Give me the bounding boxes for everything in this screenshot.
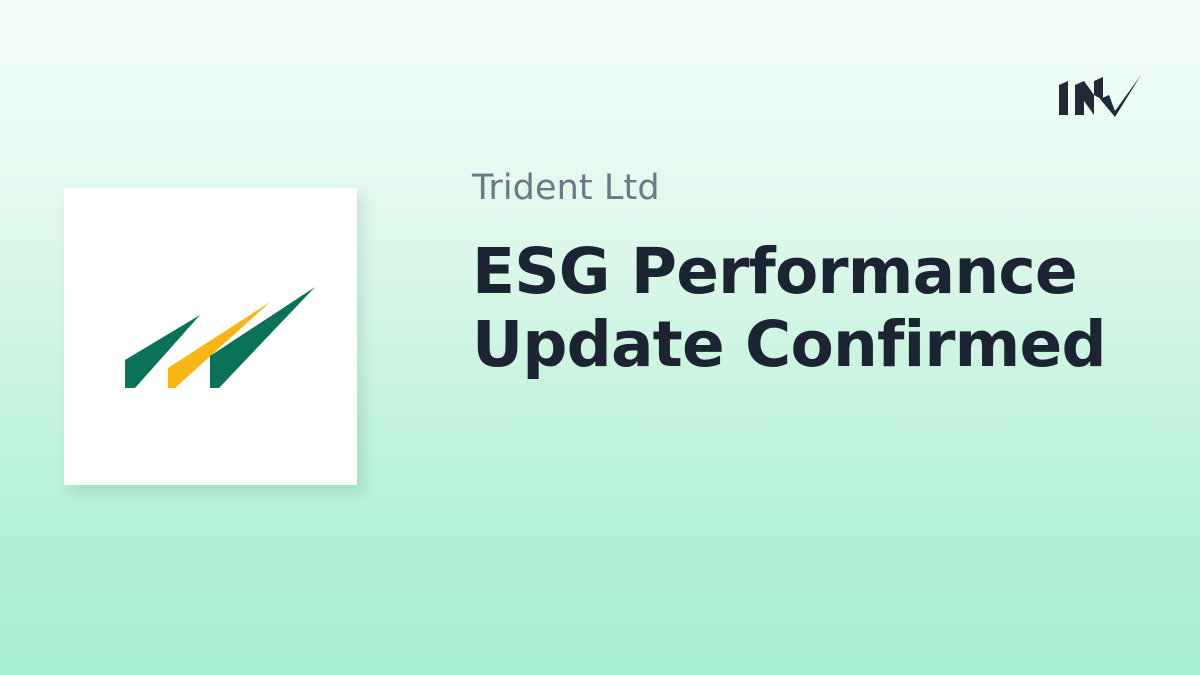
company-name: Trident Ltd [472,168,1162,209]
headline-line-2: Update Confirmed [472,308,1162,381]
inv-logo [1057,71,1143,119]
headline-line-1: ESG Performance [472,235,1162,308]
inv-logo-icon [1057,71,1143,119]
headline-block: Trident Ltd ESG Performance Update Confi… [472,168,1162,381]
trident-swoosh-logo-icon [64,188,357,485]
company-logo-card [64,188,357,485]
page-title: ESG Performance Update Confirmed [472,235,1162,381]
slide-canvas: Trident Ltd ESG Performance Update Confi… [0,0,1200,675]
trident-swoosh-logo [64,188,357,485]
